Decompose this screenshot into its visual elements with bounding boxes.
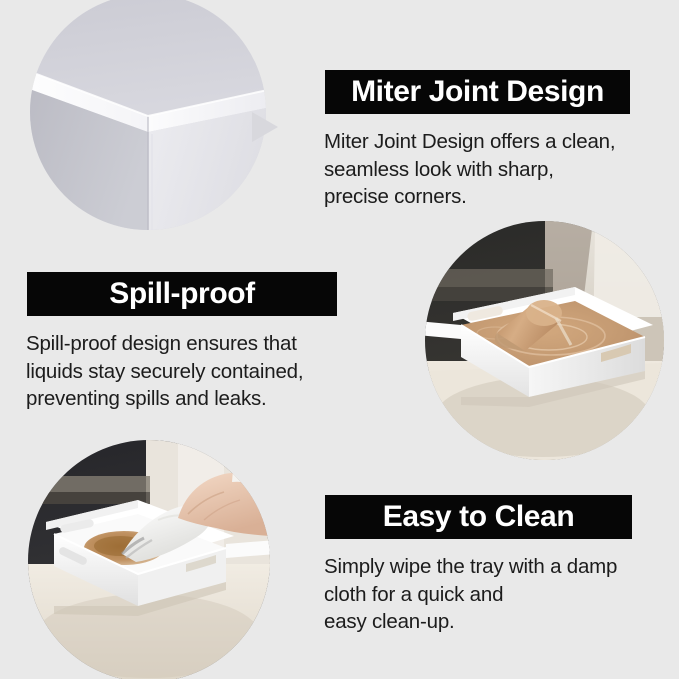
heading-miter-joint-design: Miter Joint Design [325, 70, 630, 114]
heading-label: Spill-proof [109, 277, 255, 311]
body-easy-to-clean: Simply wipe the tray with a damp cloth f… [324, 553, 676, 636]
body-spill-proof: Spill-proof design ensures that liquids … [26, 330, 366, 413]
heading-label: Easy to Clean [383, 500, 575, 534]
heading-easy-to-clean: Easy to Clean [325, 495, 632, 539]
body-miter-joint-design: Miter Joint Design offers a clean, seaml… [324, 128, 674, 211]
heading-spill-proof: Spill-proof [27, 272, 337, 316]
hand-wiping-tray-with-cloth-photo [28, 440, 270, 679]
tray-with-spilled-coffee-photo [425, 221, 664, 460]
tray-corner-miter-joint-closeup [30, 0, 266, 230]
heading-label: Miter Joint Design [351, 75, 604, 109]
product-feature-infographic: Miter Joint Design Miter Joint Design of… [0, 0, 679, 679]
callout-pointer-icon [252, 112, 278, 142]
